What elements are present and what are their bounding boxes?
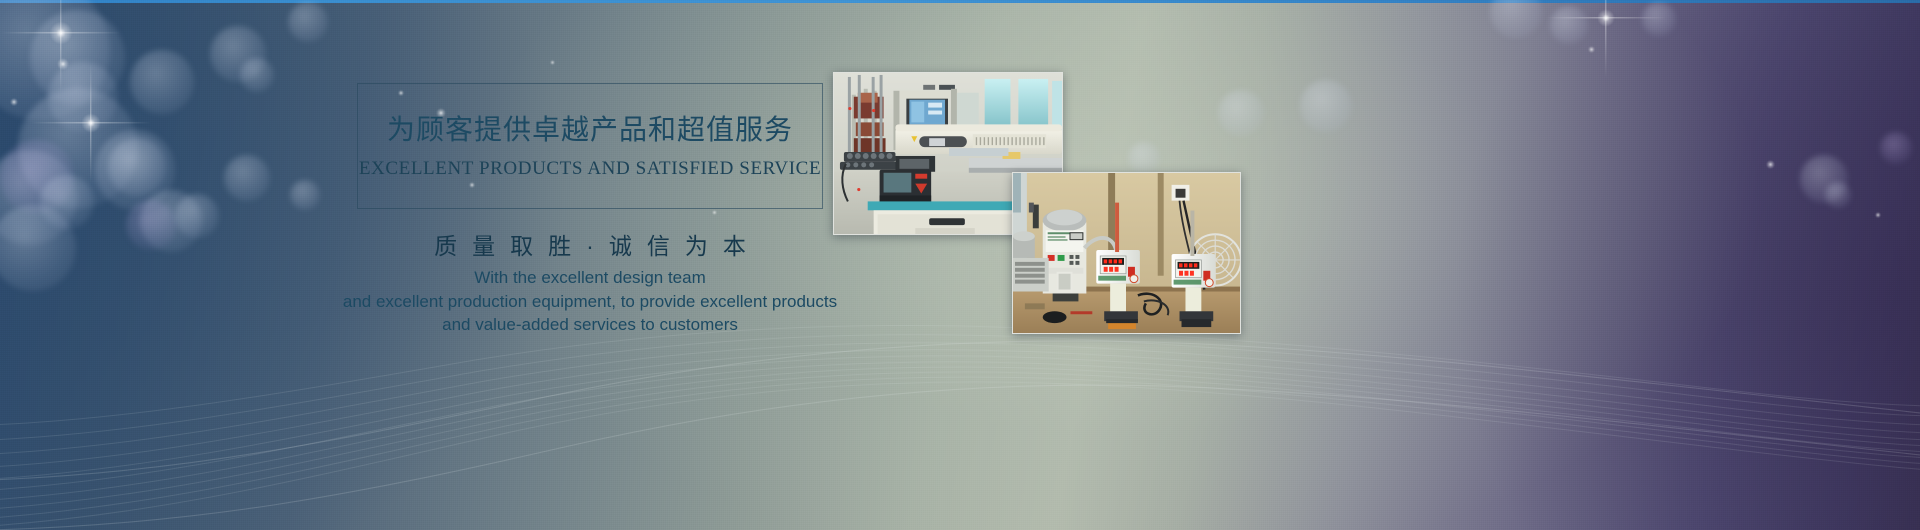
description-line-3: and value-added services to customers (300, 313, 880, 337)
description-paragraph: With the excellent design team and excel… (300, 266, 880, 337)
page-subheadline: EXCELLENT PRODUCTS AND SATISFIED SERVICE (357, 158, 823, 180)
page-headline: 为顾客提供卓越产品和超值服务 (357, 108, 823, 148)
photo-press-machines (1012, 172, 1241, 334)
description-line-2: and excellent production equipment, to p… (300, 290, 880, 314)
description-line-1: With the excellent design team (300, 266, 880, 290)
promo-banner: 为顾客提供卓越产品和超值服务 EXCELLENT PRODUCTS AND SA… (0, 0, 1920, 530)
company-slogan: 质量取胜·诚信为本 (357, 227, 823, 261)
